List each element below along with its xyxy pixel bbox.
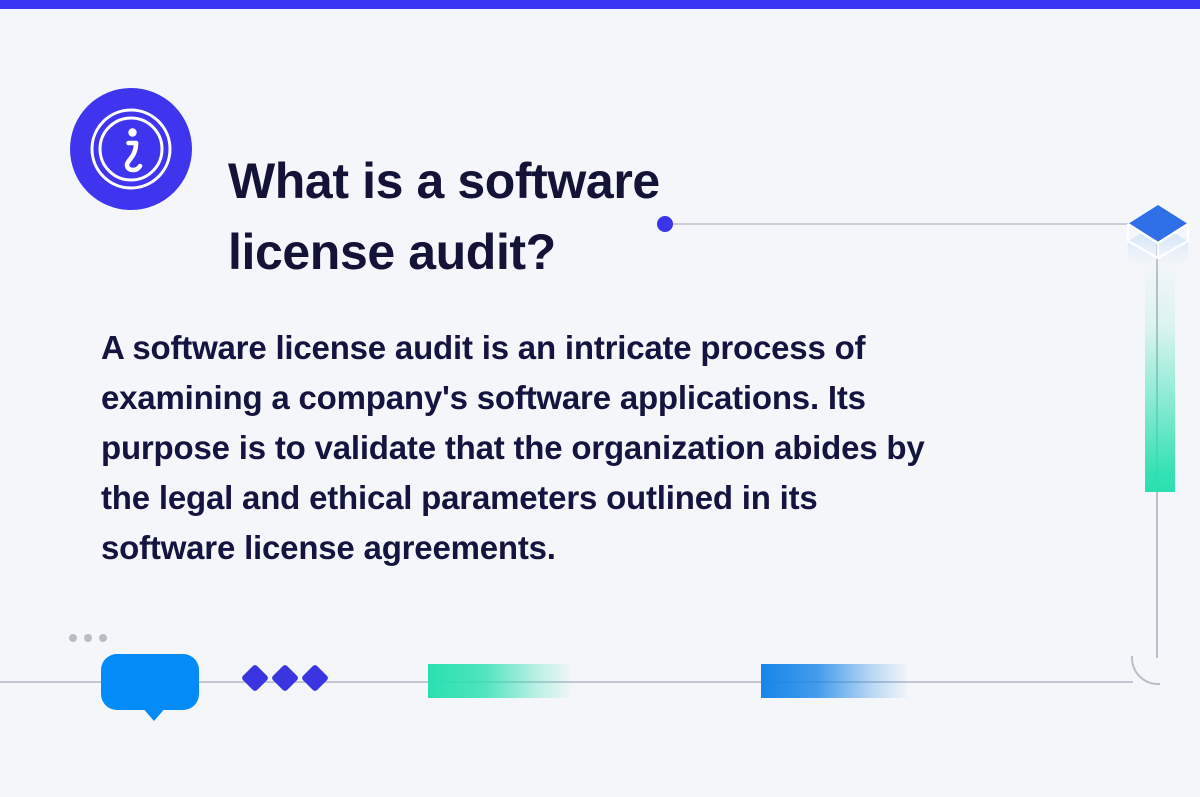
diamond-icon-1 (241, 664, 269, 692)
connector-node-dot (657, 216, 673, 232)
page-title-line-1: What is a software (228, 146, 788, 217)
connector-line-top (672, 223, 1152, 225)
infographic-canvas: What is a software license audit? A soft… (0, 0, 1200, 797)
top-accent-bar (0, 0, 1200, 9)
page-title: What is a software license audit? (228, 146, 788, 288)
speech-bubble-icon (101, 654, 199, 710)
page-title-line-2: license audit? (228, 217, 788, 288)
info-icon (70, 88, 192, 210)
connector-corner (1131, 656, 1160, 685)
body-line-1: A software license audit is an intricate… (101, 323, 1041, 373)
loading-dots-icon (69, 634, 107, 642)
dot-1 (69, 634, 77, 642)
body-line-4: the legal and ethical parameters outline… (101, 473, 1041, 523)
teal-gradient-bar-horizontal (428, 664, 573, 698)
blue-gradient-bar-horizontal (761, 664, 909, 698)
diamond-markers (245, 668, 325, 688)
isometric-cube-icon (1126, 200, 1190, 272)
body-line-2: examining a company's software applicati… (101, 373, 1041, 423)
body-line-5: software license agreements. (101, 523, 1041, 573)
diamond-icon-3 (301, 664, 329, 692)
body-paragraph: A software license audit is an intricate… (101, 323, 1041, 573)
dot-3 (99, 634, 107, 642)
dot-2 (84, 634, 92, 642)
body-line-3: purpose is to validate that the organiza… (101, 423, 1041, 473)
diamond-icon-2 (271, 664, 299, 692)
teal-gradient-bar-vertical (1145, 262, 1175, 492)
